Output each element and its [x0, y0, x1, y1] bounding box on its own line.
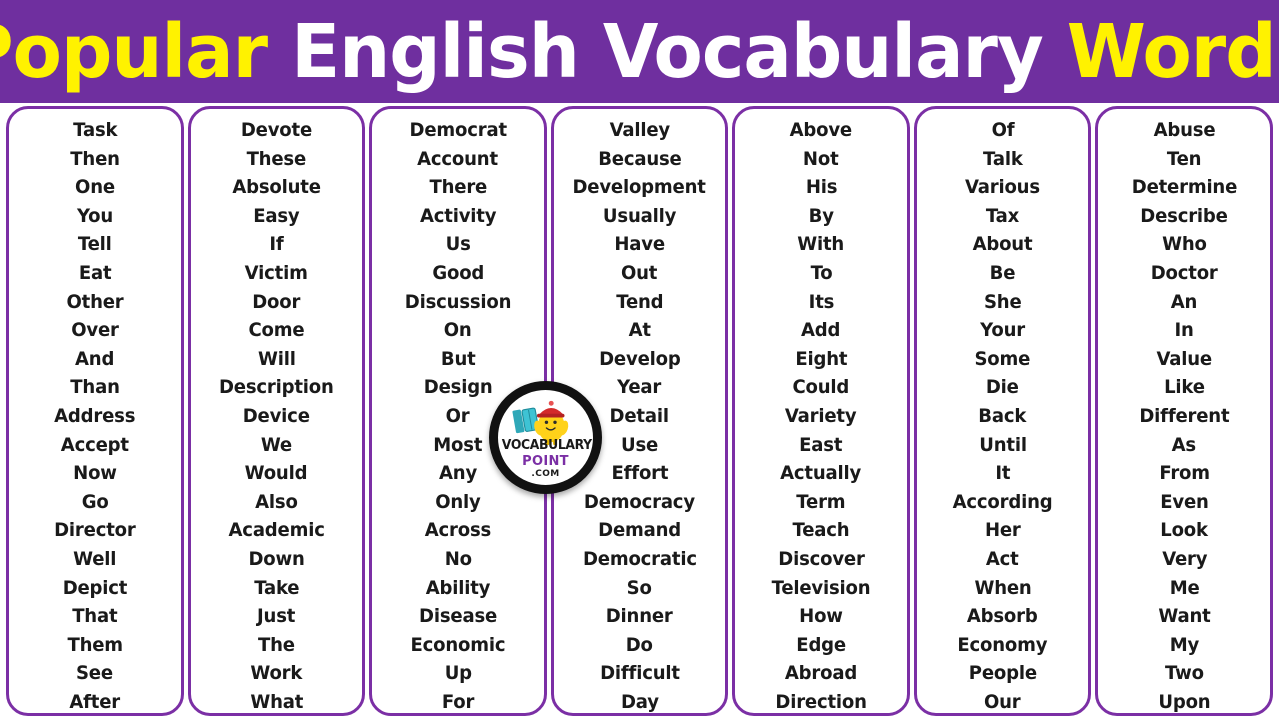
word-item: Device [243, 402, 310, 431]
word-item: Also [255, 488, 298, 517]
word-item: Television [772, 574, 871, 603]
word-item: Develop [599, 345, 680, 374]
word-item: Look [1160, 516, 1208, 545]
word-item: To [810, 259, 832, 288]
word-item: Eight [795, 345, 847, 374]
word-item: According [953, 488, 1053, 517]
word-item: Eat [78, 259, 111, 288]
word-item: Term [797, 488, 846, 517]
word-item: Variety [785, 402, 857, 431]
word-item: Address [54, 402, 135, 431]
word-item: By [809, 202, 834, 231]
word-item: She [984, 288, 1022, 317]
word-item: In [1175, 316, 1194, 345]
logo-line-com: .COM [498, 470, 593, 479]
word-item: Accept [61, 431, 129, 460]
word-item: No [444, 545, 471, 574]
word-column-2: Devote These Absolute Easy If Victim Doo… [188, 106, 366, 716]
word-item: Democrat [409, 116, 506, 145]
word-item: Than [70, 373, 119, 402]
word-item: East [800, 431, 843, 460]
word-item: Some [975, 345, 1031, 374]
word-item: Year [618, 373, 662, 402]
word-columns: Task Then One You Tell Eat Other Over An… [0, 106, 1279, 716]
word-item: Will [258, 345, 296, 374]
word-item: Because [598, 145, 681, 174]
word-item: Across [425, 516, 491, 545]
word-item: Act [986, 545, 1019, 574]
word-item: For [442, 688, 474, 716]
word-item: Take [254, 574, 299, 603]
word-item: Tend [616, 288, 663, 317]
word-item: That [72, 602, 117, 631]
word-column-1: Task Then One You Tell Eat Other Over An… [6, 106, 184, 716]
word-item: You [77, 202, 113, 231]
vocabulary-point-logo: VOCABULARY POINT .COM [489, 381, 602, 494]
word-item: Discover [778, 545, 864, 574]
word-item: Over [71, 316, 119, 345]
word-item: Of [991, 116, 1014, 145]
word-item: Academic [228, 516, 324, 545]
word-item: Not [803, 145, 839, 174]
word-item: Valley [609, 116, 669, 145]
word-item: Now [73, 459, 117, 488]
word-item: At [628, 316, 650, 345]
word-item: Democratic [583, 545, 697, 574]
word-item: Die [986, 373, 1019, 402]
word-item: Task [73, 116, 117, 145]
word-item: Back [979, 402, 1027, 431]
word-item: Very [1162, 545, 1207, 574]
word-item: People [969, 659, 1037, 688]
word-item: Even [1160, 488, 1208, 517]
word-item: Our [984, 688, 1021, 716]
word-item: Me [1169, 574, 1199, 603]
word-column-7: Abuse Ten Determine Describe Who Doctor … [1095, 106, 1273, 716]
word-item: If [269, 230, 283, 259]
word-item: From [1159, 459, 1210, 488]
word-item: Or [446, 402, 470, 431]
word-item: Difficult [600, 659, 680, 688]
word-item: Absorb [967, 602, 1038, 631]
word-item: But [441, 345, 476, 374]
word-item: Only [435, 488, 480, 517]
word-item: So [627, 574, 652, 603]
word-item: Usually [603, 202, 676, 231]
word-item: Description [219, 373, 334, 402]
word-item: My [1170, 631, 1199, 660]
word-item: Down [248, 545, 304, 574]
word-item: Want [1158, 602, 1210, 631]
word-item: Account [418, 145, 499, 174]
word-item: Different [1139, 402, 1229, 431]
page-title-part-3: Words [1067, 9, 1279, 95]
word-item: Until [979, 431, 1027, 460]
word-item: About [973, 230, 1033, 259]
word-item: Edge [796, 631, 846, 660]
word-item: His [805, 173, 836, 202]
word-item: Do [626, 631, 653, 660]
word-item: Have [614, 230, 665, 259]
word-item: Up [444, 659, 471, 688]
word-item: Could [793, 373, 850, 402]
word-item: Various [965, 173, 1040, 202]
word-item: After [69, 688, 120, 716]
word-item: We [261, 431, 292, 460]
word-item: Above [790, 116, 852, 145]
word-item: Be [990, 259, 1016, 288]
word-item: Determine [1132, 173, 1237, 202]
word-item: Just [257, 602, 295, 631]
word-item: Doctor [1151, 259, 1218, 288]
word-item: Victim [245, 259, 308, 288]
word-item: There [429, 173, 487, 202]
word-item: Other [66, 288, 123, 317]
word-item: Two [1165, 659, 1204, 688]
vocabulary-poster: Popular English Vocabulary Words Task Th… [0, 0, 1279, 720]
word-item: Easy [253, 202, 299, 231]
word-item: Out [621, 259, 657, 288]
page-title-part-2: English Vocabulary [291, 9, 1067, 95]
logo-wordmark: VOCABULARY POINT .COM [498, 439, 593, 479]
word-item: Any [439, 459, 477, 488]
word-item: Absolute [232, 173, 320, 202]
word-item: Most [433, 431, 482, 460]
logo-line-vocabulary: VOCABULARY [502, 439, 589, 453]
word-item: These [247, 145, 306, 174]
word-item: Us [445, 230, 470, 259]
word-item: Director [54, 516, 135, 545]
word-item: Talk [983, 145, 1023, 174]
logo-line-point: POINT [498, 455, 593, 468]
word-item: Teach [793, 516, 850, 545]
word-item: Design [424, 373, 493, 402]
word-item: Well [73, 545, 116, 574]
word-item: Direction [775, 688, 866, 716]
word-item: Door [252, 288, 300, 317]
word-item: With [798, 230, 845, 259]
word-item: Describe [1141, 202, 1228, 231]
word-item: The [258, 631, 295, 660]
word-item: Work [250, 659, 302, 688]
word-column-6: Of Talk Various Tax About Be She Your So… [914, 106, 1092, 716]
page-title: Popular English Vocabulary Words [0, 12, 1279, 92]
word-item: See [76, 659, 113, 688]
word-item: Abroad [785, 659, 857, 688]
word-item: As [1172, 431, 1196, 460]
word-item: Her [985, 516, 1021, 545]
word-item: Depict [63, 574, 128, 603]
word-item: Day [621, 688, 659, 716]
word-item: Detail [610, 402, 669, 431]
word-item: Upon [1158, 688, 1210, 716]
word-item: How [799, 602, 843, 631]
word-item: What [250, 688, 303, 716]
word-item: Demand [598, 516, 681, 545]
word-item: Disease [419, 602, 497, 631]
word-item: On [444, 316, 472, 345]
word-item: Actually [781, 459, 862, 488]
word-item: Dinner [606, 602, 673, 631]
word-item: Development [573, 173, 706, 202]
word-item: Add [801, 316, 840, 345]
word-item: When [974, 574, 1031, 603]
word-item: Tell [78, 230, 112, 259]
word-item: Ability [426, 574, 491, 603]
word-item: An [1171, 288, 1197, 317]
word-item: Value [1157, 345, 1213, 374]
word-item: Effort [611, 459, 668, 488]
word-item: Economy [958, 631, 1048, 660]
word-item: Devote [241, 116, 312, 145]
word-item: Tax [986, 202, 1019, 231]
word-item: One [75, 173, 115, 202]
word-item: Discussion [405, 288, 511, 317]
word-item: Your [980, 316, 1025, 345]
word-item: Its [808, 288, 834, 317]
word-item: Go [81, 488, 108, 517]
word-item: Them [67, 631, 122, 660]
word-item: Ten [1167, 145, 1201, 174]
word-item: Abuse [1153, 116, 1215, 145]
page-title-part-1: Popular [0, 9, 291, 95]
word-item: Like [1164, 373, 1205, 402]
word-item: Use [621, 431, 658, 460]
word-item: Democracy [584, 488, 695, 517]
word-item: Economic [411, 631, 506, 660]
word-item: Good [432, 259, 484, 288]
word-item: Come [248, 316, 304, 345]
word-column-5: Above Not His By With To Its Add Eight C… [732, 106, 910, 716]
word-item: Then [70, 145, 120, 174]
word-item: Would [245, 459, 308, 488]
logo-inner: VOCABULARY POINT .COM [498, 390, 593, 485]
word-item: It [995, 459, 1010, 488]
poster-header: Popular English Vocabulary Words [0, 0, 1279, 103]
word-item: Activity [420, 202, 496, 231]
word-item: Who [1162, 230, 1207, 259]
word-item: And [75, 345, 114, 374]
